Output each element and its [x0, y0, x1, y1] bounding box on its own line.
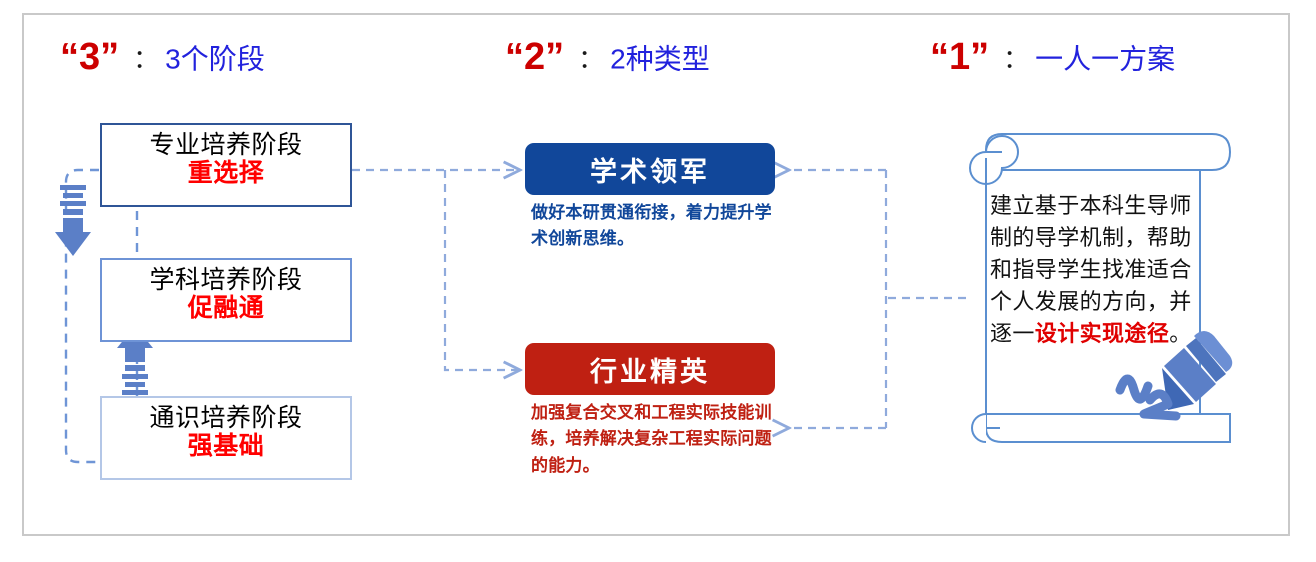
scroll-text: 建立基于本科生导师制的导学机制，帮助和指导学生找准适合个人发展的方向，并逐一设计… [990, 190, 1194, 349]
type-badge-academic[interactable]: 学术领军 [525, 143, 775, 195]
header-3-number: “3” [60, 36, 119, 78]
stage-box-professional[interactable]: 专业培养阶段 重选择 [100, 123, 352, 207]
stage-box-discipline-name: 学科培养阶段 [102, 266, 350, 294]
header-2-number: “2” [505, 36, 564, 78]
type-desc-academic: 做好本研贯通衔接，着力提升学术创新思维。 [531, 200, 783, 253]
diagram-canvas: “3”：3个阶段 “2”：2种类型 “1”：一人一方案 专业培养阶段 重选择 学… [0, 0, 1316, 562]
stage-box-discipline[interactable]: 学科培养阶段 促融通 [100, 258, 352, 342]
header-1-label: 一人一方案 [1035, 44, 1175, 75]
header-3-label: 3个阶段 [165, 44, 265, 75]
scroll-text-suffix: 。 [1169, 321, 1191, 346]
stage-box-general-keyword: 强基础 [102, 432, 350, 460]
header-3-colon: ： [119, 44, 165, 74]
header-2-colon: ： [564, 44, 610, 74]
header-1-number: “1” [930, 36, 989, 78]
stage-box-general-name: 通识培养阶段 [102, 404, 350, 432]
header-1: “1”：一人一方案 [930, 36, 1175, 79]
stage-box-professional-keyword: 重选择 [102, 159, 350, 187]
stage-box-general[interactable]: 通识培养阶段 强基础 [100, 396, 352, 480]
header-2-label: 2种类型 [610, 44, 710, 75]
stage-box-professional-name: 专业培养阶段 [102, 131, 350, 159]
scroll-text-highlight: 设计实现途径 [1035, 321, 1169, 346]
type-desc-industry: 加强复合交叉和工程实际技能训练，培养解决复杂工程实际问题的能力。 [531, 400, 783, 479]
scroll-panel: 建立基于本科生导师制的导学机制，帮助和指导学生找准适合个人发展的方向，并逐一设计… [968, 128, 1254, 458]
type-badge-industry[interactable]: 行业精英 [525, 343, 775, 395]
stage-box-discipline-keyword: 促融通 [102, 294, 350, 322]
header-1-colon: ： [989, 44, 1035, 74]
header-3: “3”：3个阶段 [60, 36, 265, 79]
header-2: “2”：2种类型 [505, 36, 710, 79]
